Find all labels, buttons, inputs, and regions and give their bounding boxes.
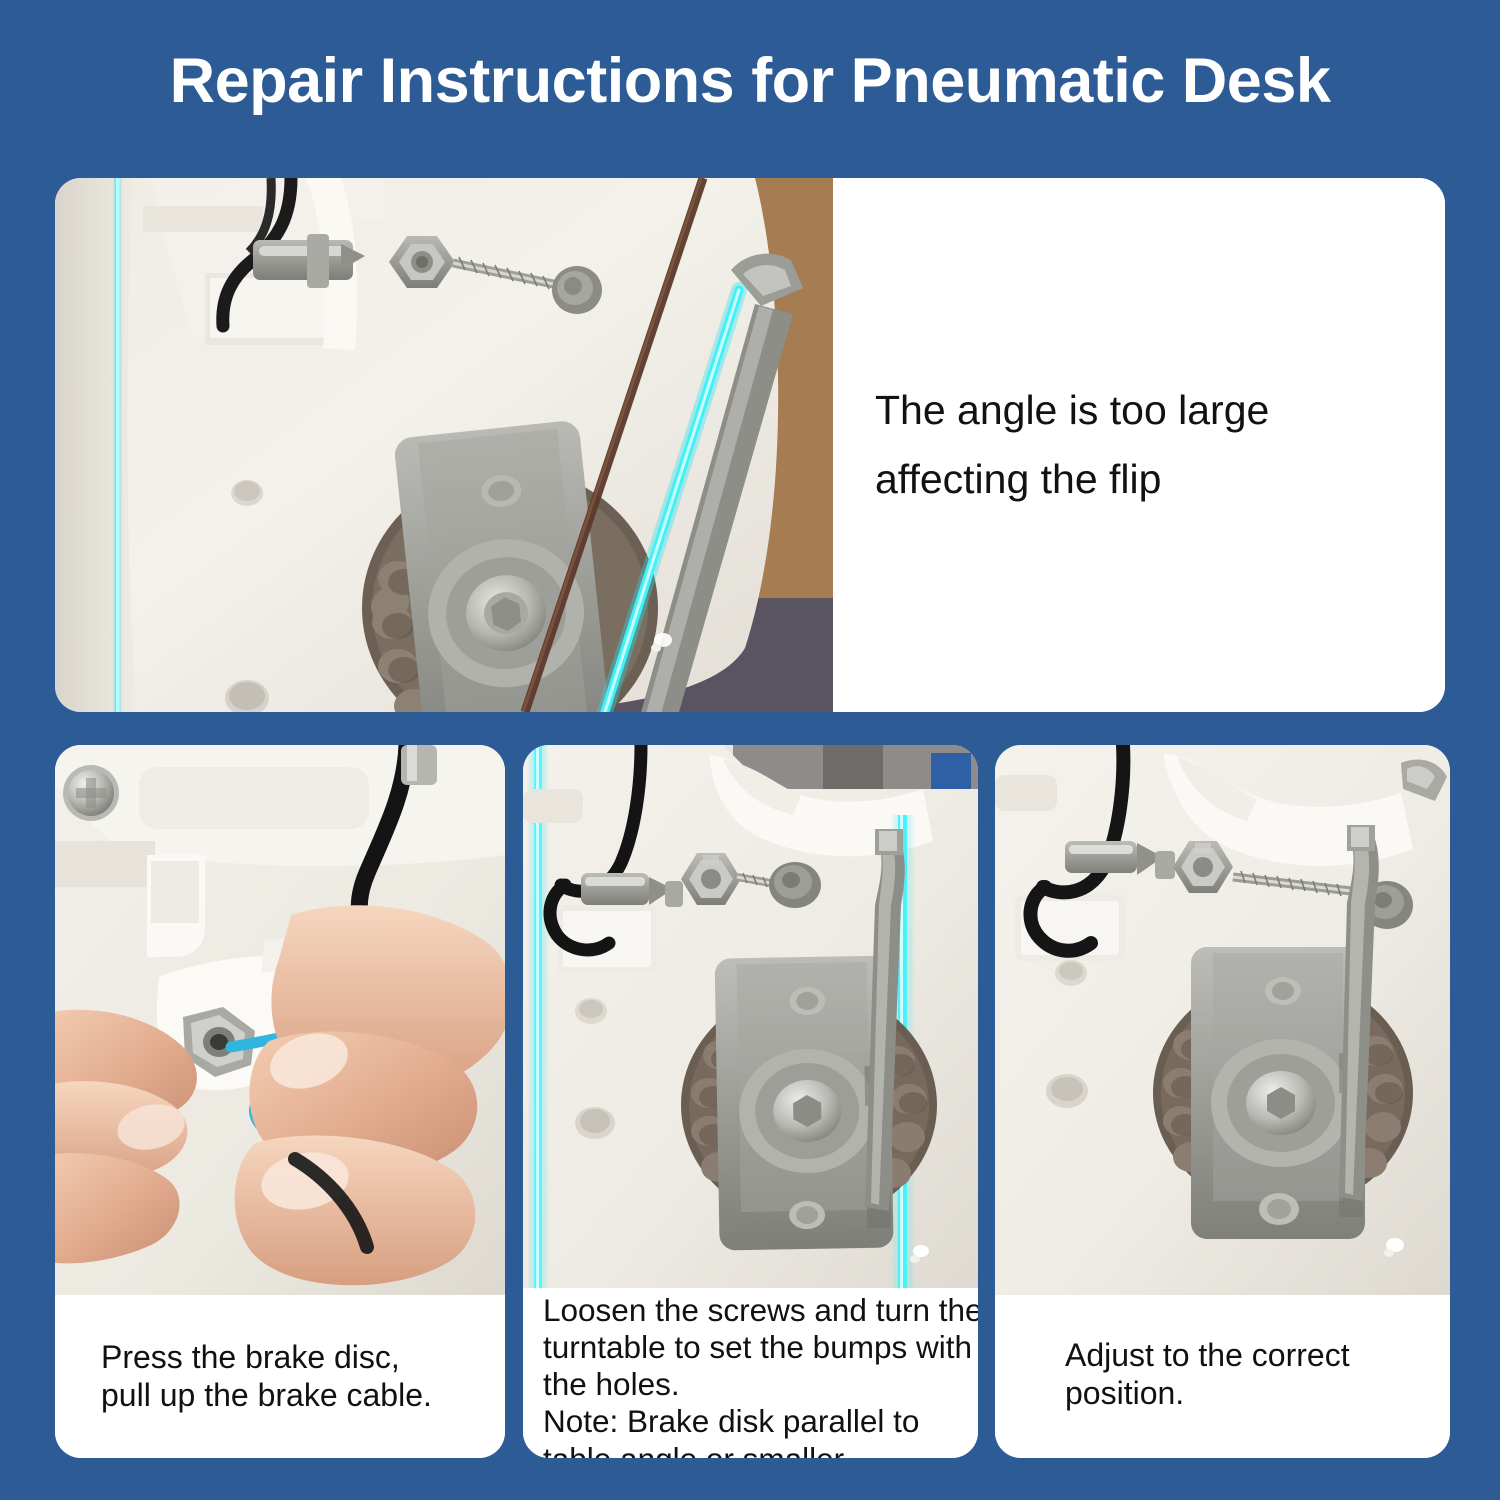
- top-panel: The angle is too large affecting the fli…: [55, 178, 1445, 712]
- caption-line: Note: Brake disk parallel to: [543, 1403, 978, 1440]
- caption-line: position.: [1065, 1375, 1450, 1413]
- repair-instructions-page: Repair Instructions for Pneumatic Desk: [0, 0, 1500, 1500]
- caption-line: table angle or smaller.: [543, 1441, 978, 1458]
- steps-row: Press the brake disc, pull up the brake …: [55, 745, 1450, 1458]
- step-card-2: Loosen the screws and turn the turntable…: [523, 745, 978, 1458]
- step-card-3: Adjust to the correct position.: [995, 745, 1450, 1458]
- caption-line: Press the brake disc,: [101, 1339, 505, 1377]
- caption-line: pull up the brake cable.: [101, 1377, 505, 1415]
- adjusted-correct-position-photo: [995, 745, 1450, 1295]
- step-2-caption: Loosen the screws and turn the turntable…: [523, 1288, 978, 1458]
- caption-line: turntable to set the bumps with: [543, 1329, 978, 1366]
- note-line-1: The angle is too large: [875, 390, 1425, 431]
- step-3-caption: Adjust to the correct position.: [995, 1295, 1450, 1458]
- brake-disc-angle-too-large-photo: [55, 178, 833, 712]
- caption-line: the holes.: [543, 1366, 978, 1403]
- step-1-caption: Press the brake disc, pull up the brake …: [55, 1295, 505, 1458]
- top-panel-note: The angle is too large affecting the fli…: [833, 178, 1445, 712]
- step-card-1: Press the brake disc, pull up the brake …: [55, 745, 505, 1458]
- caption-line: Loosen the screws and turn the: [543, 1292, 978, 1329]
- note-line-2: affecting the flip: [875, 459, 1425, 500]
- caption-line: Adjust to the correct: [1065, 1337, 1450, 1375]
- loosen-screws-turn-turntable-photo: [523, 745, 978, 1288]
- press-brake-disc-pull-cable-photo: [55, 745, 505, 1295]
- page-title: Repair Instructions for Pneumatic Desk: [0, 50, 1500, 113]
